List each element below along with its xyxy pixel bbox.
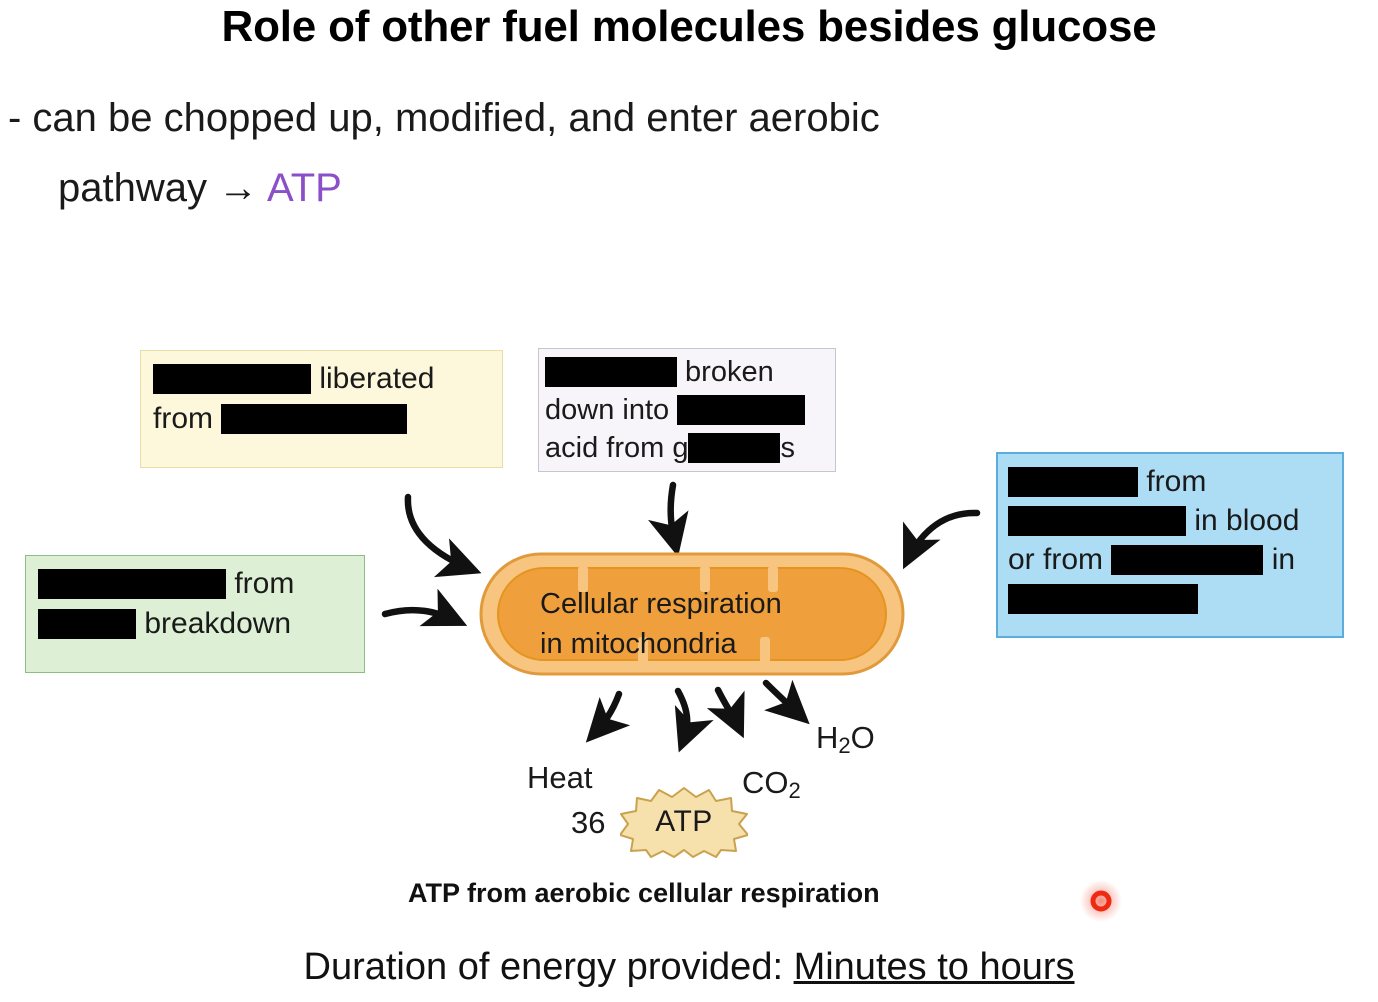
footer-prefix: Duration of energy provided: bbox=[304, 946, 794, 988]
fuel-box-text: in bbox=[1263, 543, 1295, 576]
redaction-bar bbox=[1008, 506, 1186, 536]
fuel-box-text: breakdown bbox=[136, 607, 291, 640]
mitochondrion-label-line2: in mitochondria bbox=[540, 624, 840, 664]
redaction-bar bbox=[1008, 467, 1138, 497]
fuel-box-text: liberated bbox=[311, 362, 434, 395]
diagram-caption: ATP from aerobic cellular respiration bbox=[408, 878, 880, 909]
fuel-box-line: from bbox=[1008, 462, 1336, 501]
footer-line: Duration of energy provided: Minutes to … bbox=[0, 946, 1378, 989]
fuel-box-line: or from in bbox=[1008, 540, 1336, 579]
fuel-box-glycerol: from breakdown bbox=[25, 555, 365, 673]
fuel-box-line: from bbox=[153, 399, 492, 439]
fuel-box-text: s bbox=[780, 432, 795, 464]
fuel-box-glucose: from in bloodor from in bbox=[996, 452, 1344, 638]
fuel-box-line: acid from gs bbox=[545, 429, 827, 467]
fuel-box-text: or from bbox=[1008, 543, 1111, 576]
fuel-box-line: breakdown bbox=[38, 604, 354, 644]
fuel-box-line: liberated bbox=[153, 359, 492, 399]
fuel-box-text: down into bbox=[545, 394, 677, 426]
fuel-box-amino-acids: brokendown into acid from gs bbox=[538, 348, 836, 472]
h2o-subscript: 2 bbox=[838, 733, 850, 758]
mitochondrion-label: Cellular respiration in mitochondria bbox=[540, 584, 840, 664]
co2-main: CO bbox=[742, 765, 789, 800]
redaction-bar bbox=[677, 395, 805, 425]
fuel-box-text: from bbox=[153, 402, 221, 435]
fuel-box-text: broken bbox=[677, 356, 774, 388]
mitochondrion-label-line1: Cellular respiration bbox=[540, 584, 840, 624]
fuel-box-line: broken bbox=[545, 353, 827, 391]
click-marker-icon bbox=[1079, 879, 1123, 923]
output-label-heat: Heat bbox=[527, 760, 592, 796]
fuel-box-text: from bbox=[1138, 465, 1206, 498]
fuel-box-line bbox=[1008, 579, 1336, 618]
fuel-box-text: in blood bbox=[1186, 504, 1299, 537]
fuel-box-fatty-acids: liberatedfrom bbox=[140, 350, 503, 468]
fuel-box-line: from bbox=[38, 564, 354, 604]
fuel-box-line: down into bbox=[545, 391, 827, 429]
redaction-bar bbox=[1111, 545, 1263, 575]
redaction-bar bbox=[153, 364, 311, 394]
footer-underlined-answer: Minutes to hours bbox=[794, 946, 1075, 988]
redaction-bar bbox=[38, 569, 226, 599]
output-label-h2o: H2O bbox=[816, 720, 875, 759]
output-label-co2: CO2 bbox=[742, 765, 801, 804]
fuel-box-text: acid from g bbox=[545, 432, 688, 464]
cellular-respiration-diagram: Cellular respiration in mitochondria lib… bbox=[0, 0, 1378, 1002]
output-label-atp-count: 36 bbox=[571, 805, 605, 841]
redaction-bar bbox=[221, 404, 407, 434]
co2-subscript: 2 bbox=[789, 778, 801, 803]
redaction-bar bbox=[545, 357, 677, 387]
h2o-o: O bbox=[851, 720, 875, 755]
redaction-bar bbox=[1008, 584, 1198, 614]
fuel-box-line: in blood bbox=[1008, 501, 1336, 540]
redaction-bar bbox=[38, 609, 136, 639]
redaction-bar bbox=[688, 433, 780, 463]
atp-starburst-label: ATP bbox=[620, 786, 748, 858]
h2o-h: H bbox=[816, 720, 838, 755]
fuel-box-text: from bbox=[226, 567, 294, 600]
